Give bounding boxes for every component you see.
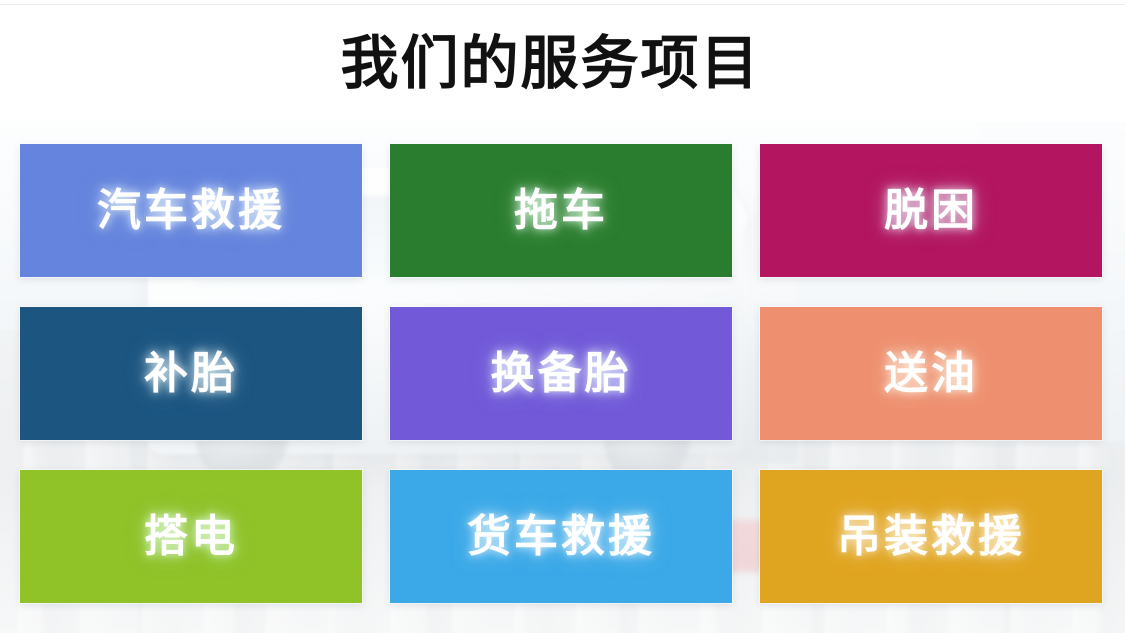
service-tile-car-rescue[interactable]: 汽车救援 (20, 144, 362, 277)
service-tile-tire-repair[interactable]: 补胎 (20, 307, 362, 440)
service-grid: 汽车救援 拖车 脱困 补胎 换备胎 送油 搭电 货车救援 吊装救援 (20, 144, 1103, 603)
service-tile-label: 换备胎 (491, 352, 632, 396)
service-tile-spare-tire-change[interactable]: 换备胎 (390, 307, 732, 440)
page-title-container: 我们的服务项目 (0, 18, 1125, 110)
service-tile-extrication[interactable]: 脱困 (760, 144, 1102, 277)
service-tile-label: 拖车 (514, 189, 608, 233)
service-tile-label: 搭电 (144, 515, 238, 559)
service-poster: 我们的服务项目 汽车救援 拖车 脱困 补胎 换备胎 送油 搭电 货车救援 吊装救… (0, 0, 1125, 633)
service-tile-label: 汽车救援 (97, 189, 285, 233)
service-tile-truck-rescue[interactable]: 货车救援 (390, 470, 732, 603)
service-tile-towing[interactable]: 拖车 (390, 144, 732, 277)
service-tile-label: 脱困 (884, 189, 978, 233)
service-tile-label: 补胎 (144, 352, 238, 396)
service-tile-crane-rescue[interactable]: 吊装救援 (760, 470, 1102, 603)
service-tile-label: 送油 (884, 352, 978, 396)
service-tile-jump-start[interactable]: 搭电 (20, 470, 362, 603)
page-title: 我们的服务项目 (340, 35, 760, 93)
service-tile-fuel-delivery[interactable]: 送油 (760, 307, 1102, 440)
service-tile-label: 吊装救援 (837, 515, 1025, 559)
top-hairline-divider (0, 4, 1125, 5)
service-tile-label: 货车救援 (467, 515, 655, 559)
